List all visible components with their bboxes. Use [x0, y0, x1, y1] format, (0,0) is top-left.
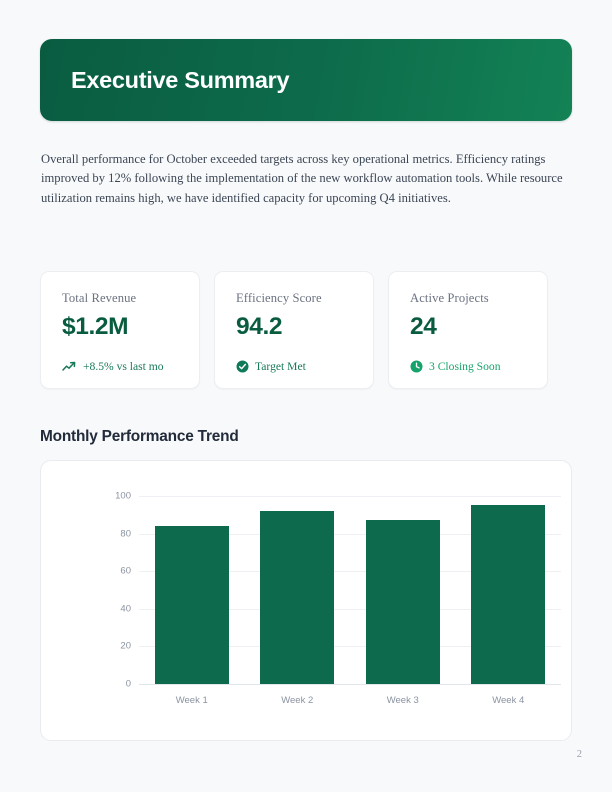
chart-bar	[155, 526, 229, 684]
chart-x-axis-label: Week 1	[176, 695, 208, 706]
chart-y-axis-label: 60	[120, 566, 131, 577]
stat-card-footer-text: 3 Closing Soon	[429, 360, 501, 373]
chart-y-axis-label: 0	[126, 679, 131, 690]
stat-card-efficiency-score: Efficiency Score 94.2 Target Met	[214, 271, 374, 389]
stat-card-value: 94.2	[236, 315, 373, 340]
chart-bar-slot: Week 3	[350, 496, 456, 684]
chart-x-axis-label: Week 4	[492, 695, 524, 706]
chart-canvas: 020406080100 Week 1Week 2Week 3Week 4	[41, 461, 571, 740]
clock-icon	[410, 360, 423, 373]
chart-bar-slot: Week 1	[139, 496, 245, 684]
chart-y-axis-label: 20	[120, 641, 131, 652]
performance-chart-card: 020406080100 Week 1Week 2Week 3Week 4	[40, 460, 572, 741]
stat-cards-row: Total Revenue $1.2M +8.5% vs last mo Eff…	[40, 271, 572, 389]
chart-bar	[366, 520, 440, 684]
trending-up-icon	[62, 361, 77, 372]
stat-card-value: $1.2M	[62, 315, 199, 340]
check-circle-icon	[236, 360, 249, 373]
stat-card-label: Total Revenue	[62, 291, 199, 306]
chart-y-axis-label: 40	[120, 603, 131, 614]
chart-gridline: 0	[139, 684, 561, 685]
chart-bar-slot: Week 2	[245, 496, 351, 684]
chart-x-axis-label: Week 3	[387, 695, 419, 706]
document-page: Executive Summary Overall performance fo…	[0, 0, 612, 792]
stat-card-label: Efficiency Score	[236, 291, 373, 306]
chart-section-heading: Monthly Performance Trend	[40, 428, 239, 446]
stat-card-total-revenue: Total Revenue $1.2M +8.5% vs last mo	[40, 271, 200, 389]
page-number: 2	[577, 749, 582, 760]
stat-card-active-projects: Active Projects 24 3 Closing Soon	[388, 271, 548, 389]
chart-bars: Week 1Week 2Week 3Week 4	[139, 496, 561, 684]
stat-card-footer: Target Met	[236, 360, 306, 373]
chart-x-axis-label: Week 2	[281, 695, 313, 706]
chart-bar	[471, 505, 545, 684]
page-title: Executive Summary	[71, 67, 289, 94]
stat-card-footer: 3 Closing Soon	[410, 360, 501, 373]
stat-card-footer-text: Target Met	[255, 360, 306, 373]
stat-card-value: 24	[410, 315, 547, 340]
stat-card-footer: +8.5% vs last mo	[62, 360, 164, 373]
chart-bar	[260, 511, 334, 684]
chart-bar-slot: Week 4	[456, 496, 562, 684]
chart-y-axis-label: 80	[120, 528, 131, 539]
chart-plot-area: 020406080100 Week 1Week 2Week 3Week 4	[139, 496, 561, 684]
executive-summary-banner: Executive Summary	[40, 39, 572, 121]
chart-y-axis-label: 100	[115, 491, 131, 502]
stat-card-label: Active Projects	[410, 291, 547, 306]
summary-paragraph: Overall performance for October exceeded…	[41, 150, 571, 208]
stat-card-footer-text: +8.5% vs last mo	[83, 360, 164, 373]
